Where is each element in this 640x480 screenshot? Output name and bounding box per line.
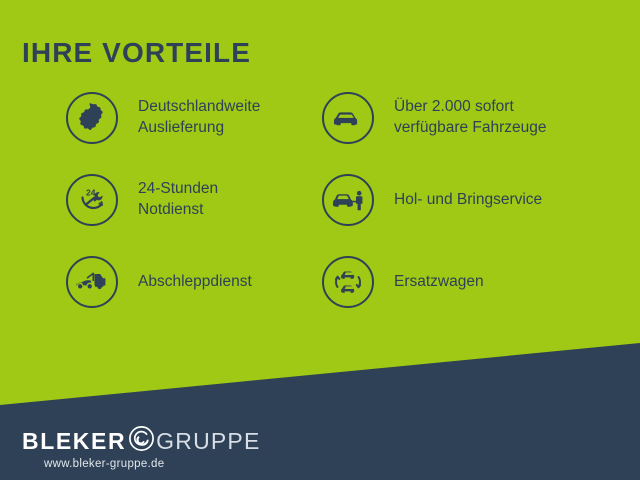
tow-truck-icon [66,256,118,308]
benefit-item-24-stunden-notdienst: 24 24-Stunden Notdienst [66,174,316,256]
brand-name-primary: BLEKER [22,428,126,455]
benefit-item-verfuegbare-fahrzeuge: Über 2.000 sofort verfügbare Fahrzeuge [322,92,622,174]
benefit-label: Deutschlandweite Auslieferung [138,92,260,144]
website-url[interactable]: www.bleker-gruppe.de [44,458,164,470]
svg-text:24: 24 [86,188,96,198]
slide-canvas: IHRE VORTEILE Deutschlandweite Ausliefer… [0,0,640,480]
two-cars-exchange-icon [322,256,374,308]
benefits-right-column: Über 2.000 sofort verfügbare Fahrzeuge [322,92,622,338]
benefit-item-ersatzwagen: Ersatzwagen [322,256,622,338]
benefit-label: Ersatzwagen [394,256,484,308]
spiral-circle-icon [128,425,155,457]
24-hour-wrench-icon: 24 [66,174,118,226]
benefit-item-hol-und-bringservice: Hol- und Bringservice [322,174,622,256]
benefit-label: Über 2.000 sofort verfügbare Fahrzeuge [394,92,547,144]
brand-logo: BLEKER GRUPPE [22,425,261,457]
car-icon [322,92,374,144]
benefit-label: 24-Stunden Notdienst [138,174,218,226]
benefit-item-abschleppdienst: Abschleppdienst [66,256,316,338]
benefit-label: Abschleppdienst [138,256,252,308]
brand-name-secondary: GRUPPE [156,428,260,455]
page-title: IHRE VORTEILE [22,38,251,69]
benefits-left-column: Deutschlandweite Auslieferung 24 24-Stun… [66,92,316,338]
car-with-person-icon [322,174,374,226]
germany-map-icon [66,92,118,144]
benefit-label: Hol- und Bringservice [394,174,542,226]
benefit-item-deutschlandweite-auslieferung: Deutschlandweite Auslieferung [66,92,316,174]
